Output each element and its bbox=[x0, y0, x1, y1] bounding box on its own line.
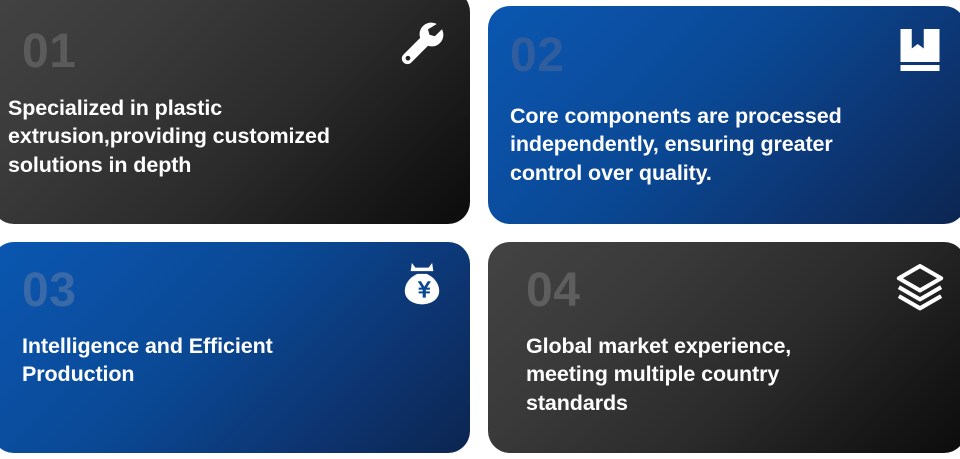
feature-card-04[interactable]: 04 Global market experience, meeting mul… bbox=[488, 242, 960, 453]
money-bag-yen-icon bbox=[394, 256, 450, 312]
card-headline-04: Global market experience, meeting multip… bbox=[526, 332, 946, 417]
feature-card-grid: 01 Specialized in plastic extrusion,prov… bbox=[0, 0, 960, 459]
feature-card-02[interactable]: 02 Core components are processed indepen… bbox=[488, 6, 960, 224]
card-headline-02: Core components are processed independen… bbox=[510, 102, 960, 187]
card-number-01: 01 bbox=[22, 28, 76, 76]
feature-card-03[interactable]: 03 Intelligence and Efficient Production bbox=[0, 242, 470, 453]
card-headline-03: Intelligence and Efficient Production bbox=[22, 332, 452, 389]
card-number-03: 03 bbox=[22, 267, 76, 315]
card-number-02: 02 bbox=[510, 32, 564, 80]
wrench-icon bbox=[392, 16, 448, 72]
card-inner: 01 Specialized in plastic extrusion,prov… bbox=[0, 0, 470, 224]
card-inner: 04 Global market experience, meeting mul… bbox=[488, 242, 960, 453]
card-number-04: 04 bbox=[526, 267, 580, 315]
card-inner: 03 Intelligence and Efficient Production bbox=[0, 242, 470, 453]
card-headline-01: Specialized in plastic extrusion,providi… bbox=[8, 94, 448, 179]
book-bookmark-icon bbox=[892, 22, 948, 78]
layers-stack-icon bbox=[892, 260, 948, 316]
card-inner: 02 Core components are processed indepen… bbox=[488, 6, 960, 224]
feature-card-01[interactable]: 01 Specialized in plastic extrusion,prov… bbox=[0, 0, 470, 224]
